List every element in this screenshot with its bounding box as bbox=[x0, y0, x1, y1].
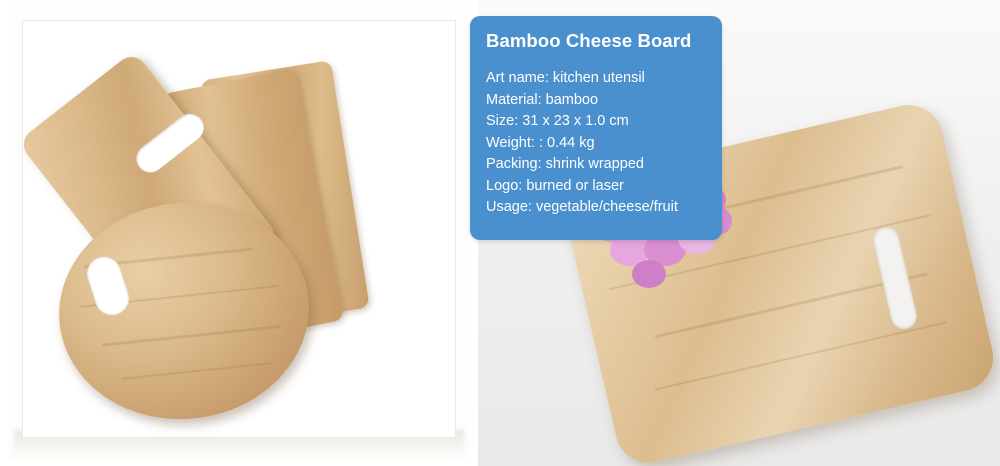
spec-row-packing: Packing: shrink wrapped bbox=[486, 154, 706, 176]
spec-row-weight: Weight: : 0.44 kg bbox=[486, 133, 706, 155]
spec-value-material: bamboo bbox=[546, 92, 598, 108]
photo-frame-inner bbox=[22, 20, 456, 438]
product-title: Bamboo Cheese Board bbox=[486, 30, 706, 52]
spec-value-art-name: kitchen utensil bbox=[553, 70, 645, 86]
spec-value-logo: burned or laser bbox=[526, 178, 624, 194]
spec-label-material: Material: bbox=[486, 92, 542, 108]
spec-row-art-name: Art name: kitchen utensil bbox=[486, 68, 706, 90]
spec-row-logo: Logo: burned or laser bbox=[486, 176, 706, 198]
spec-value-size: 31 x 23 x 1.0 cm bbox=[522, 113, 628, 129]
flower-petal bbox=[632, 260, 666, 288]
wood-grain bbox=[102, 325, 281, 347]
left-product-photo bbox=[0, 0, 478, 466]
product-info-card: Bamboo Cheese Board Art name: kitchen ut… bbox=[470, 16, 722, 240]
spec-value-usage: vegetable/cheese/fruit bbox=[536, 199, 678, 215]
spec-label-size: Size: bbox=[486, 113, 518, 129]
wood-grain bbox=[654, 321, 947, 390]
spec-row-material: Material: bamboo bbox=[486, 90, 706, 112]
spec-value-weight: : 0.44 kg bbox=[539, 135, 595, 151]
spec-label-logo: Logo: bbox=[486, 178, 522, 194]
spec-label-usage: Usage: bbox=[486, 199, 532, 215]
wood-grain bbox=[122, 362, 271, 380]
spec-label-packing: Packing: bbox=[486, 156, 542, 172]
spec-value-packing: shrink wrapped bbox=[546, 156, 644, 172]
spec-label-weight: Weight: bbox=[486, 135, 535, 151]
spec-label-art-name: Art name: bbox=[486, 70, 549, 86]
product-image-page: Bamboo Cheese Board Art name: kitchen ut… bbox=[0, 0, 1000, 466]
spec-row-usage: Usage: vegetable/cheese/fruit bbox=[486, 197, 706, 219]
spec-row-size: Size: 31 x 23 x 1.0 cm bbox=[486, 111, 706, 133]
